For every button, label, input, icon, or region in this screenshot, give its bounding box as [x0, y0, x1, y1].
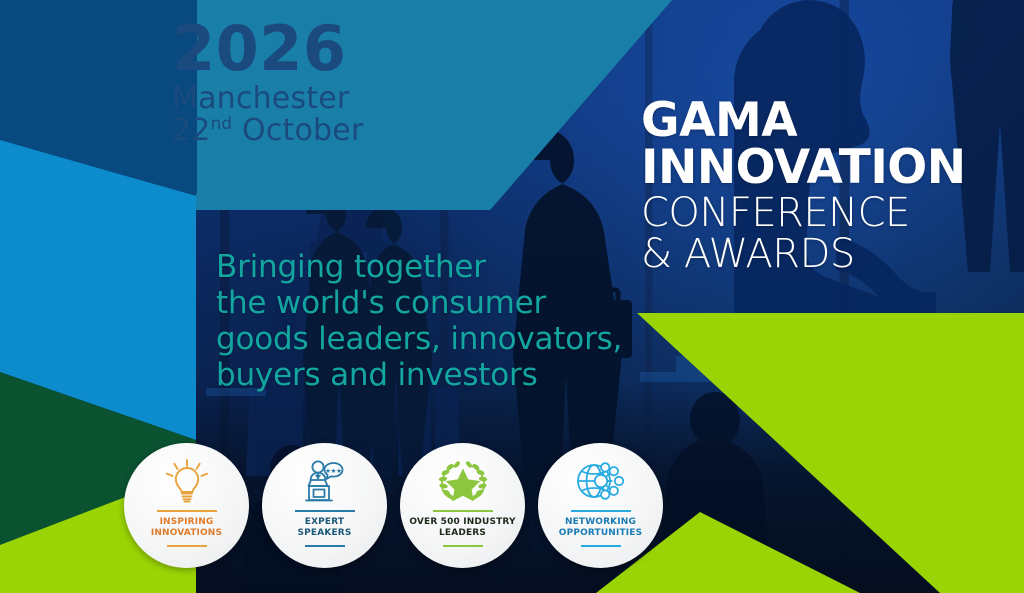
tagline-line-3: goods leaders, innovators, — [216, 322, 622, 358]
laurel-star-icon — [435, 456, 491, 505]
badge-label-line-2: SPEAKERS — [298, 528, 352, 538]
event-day-ordinal: nd — [211, 113, 233, 133]
badge-rule-top — [295, 510, 355, 512]
tagline-line-2: the world's consumer — [216, 286, 622, 322]
badge-expert-speakers[interactable]: EXPERT SPEAKERS — [262, 443, 387, 568]
badge-label-networking-opportunities: NETWORKING OPPORTUNITIES — [545, 517, 657, 540]
brand-title: GAMA INNOVATION CONFERENCE & AWARDS — [641, 98, 966, 273]
event-date-block: 2026 Manchester 22nd October — [172, 18, 363, 146]
badge-rule-bottom — [167, 545, 207, 547]
tagline-line-1: Bringing together — [216, 250, 622, 286]
badge-label-line-2: OPPORTUNITIES — [559, 528, 642, 538]
brand-line-innovation: INNOVATION — [641, 145, 966, 190]
badge-networking-opportunities[interactable]: NETWORKING OPPORTUNITIES — [538, 443, 663, 568]
badge-label-line-1: INSPIRING — [160, 517, 214, 527]
network-globe-icon — [575, 456, 627, 505]
badge-label-line-2: INNOVATIONS — [151, 528, 222, 538]
badge-label-line-2: LEADERS — [439, 528, 486, 538]
badge-industry-leaders[interactable]: OVER 500 INDUSTRY LEADERS — [400, 443, 525, 568]
event-day-number: 22 — [172, 113, 211, 148]
badge-rule-bottom — [443, 545, 483, 547]
tagline-line-4: buyers and investors — [216, 358, 622, 394]
badge-rule-top — [157, 510, 217, 512]
badge-rule-bottom — [581, 545, 621, 547]
badge-rule-bottom — [305, 545, 345, 547]
brand-line-gama: GAMA — [641, 98, 966, 143]
badge-label-line-1: OVER 500 INDUSTRY — [409, 517, 515, 527]
brand-line-conference: CONFERENCE — [641, 194, 966, 232]
event-month: October — [232, 113, 363, 148]
event-day: 22nd October — [172, 116, 363, 146]
podium-speaker-icon — [300, 456, 350, 505]
badge-rule-top — [433, 510, 493, 512]
event-year: 2026 — [172, 18, 363, 80]
event-city: Manchester — [172, 84, 363, 114]
badge-label-line-1: EXPERT — [305, 517, 344, 527]
lightbulb-icon — [164, 456, 210, 505]
event-tagline: Bringing together the world's consumer g… — [216, 250, 622, 394]
feature-badges: INSPIRING INNOVATIONS — [124, 443, 663, 568]
badge-label-line-1: NETWORKING — [565, 517, 636, 527]
badge-inspiring-innovations[interactable]: INSPIRING INNOVATIONS — [124, 443, 249, 568]
badge-rule-top — [571, 510, 631, 512]
event-poster: 2026 Manchester 22nd October GAMA INNOVA… — [0, 0, 1024, 593]
badge-label-expert-speakers: EXPERT SPEAKERS — [269, 517, 381, 540]
badge-label-inspiring-innovations: INSPIRING INNOVATIONS — [131, 517, 243, 540]
brand-line-awards: & AWARDS — [641, 235, 966, 273]
badge-label-industry-leaders: OVER 500 INDUSTRY LEADERS — [407, 517, 519, 540]
